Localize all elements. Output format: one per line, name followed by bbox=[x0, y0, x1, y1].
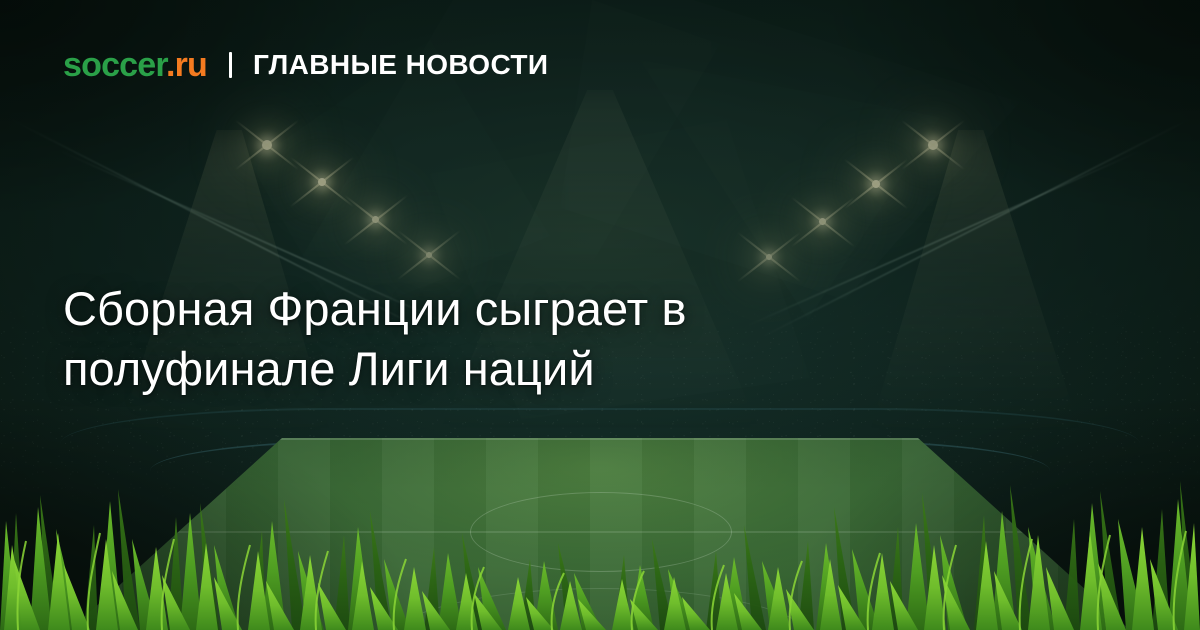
page-title: Сборная Франции сыграет в полуфинале Лиг… bbox=[63, 279, 963, 397]
floodlight-icon bbox=[819, 218, 826, 225]
pitch-centre-circle bbox=[470, 492, 732, 572]
floodlight-icon bbox=[872, 180, 880, 188]
floodlight-icon bbox=[262, 140, 272, 150]
news-banner: soccer.ru ГЛАВНЫЕ НОВОСТИ Сборная Франци… bbox=[0, 0, 1200, 630]
football-pitch bbox=[70, 438, 1130, 630]
floodlight-icon bbox=[318, 178, 326, 186]
floodlight-icon bbox=[928, 140, 938, 150]
floodlight-icon bbox=[372, 216, 379, 223]
logo-tld: .ru bbox=[166, 46, 207, 84]
logo-word: soccer bbox=[63, 46, 166, 84]
roof-facet bbox=[300, 0, 720, 260]
floodlight-icon bbox=[766, 254, 772, 260]
header-kicker: ГЛАВНЫЕ НОВОСТИ bbox=[253, 51, 548, 79]
roof-facet bbox=[250, 40, 550, 320]
pitch-touchline bbox=[261, 438, 939, 440]
floodlight-icon bbox=[426, 252, 432, 258]
site-logo[interactable]: soccer.ru bbox=[63, 48, 207, 82]
header-separator bbox=[229, 52, 232, 78]
banner-header: soccer.ru ГЛАВНЫЕ НОВОСТИ bbox=[63, 48, 548, 82]
roof-facet bbox=[560, 0, 1020, 300]
